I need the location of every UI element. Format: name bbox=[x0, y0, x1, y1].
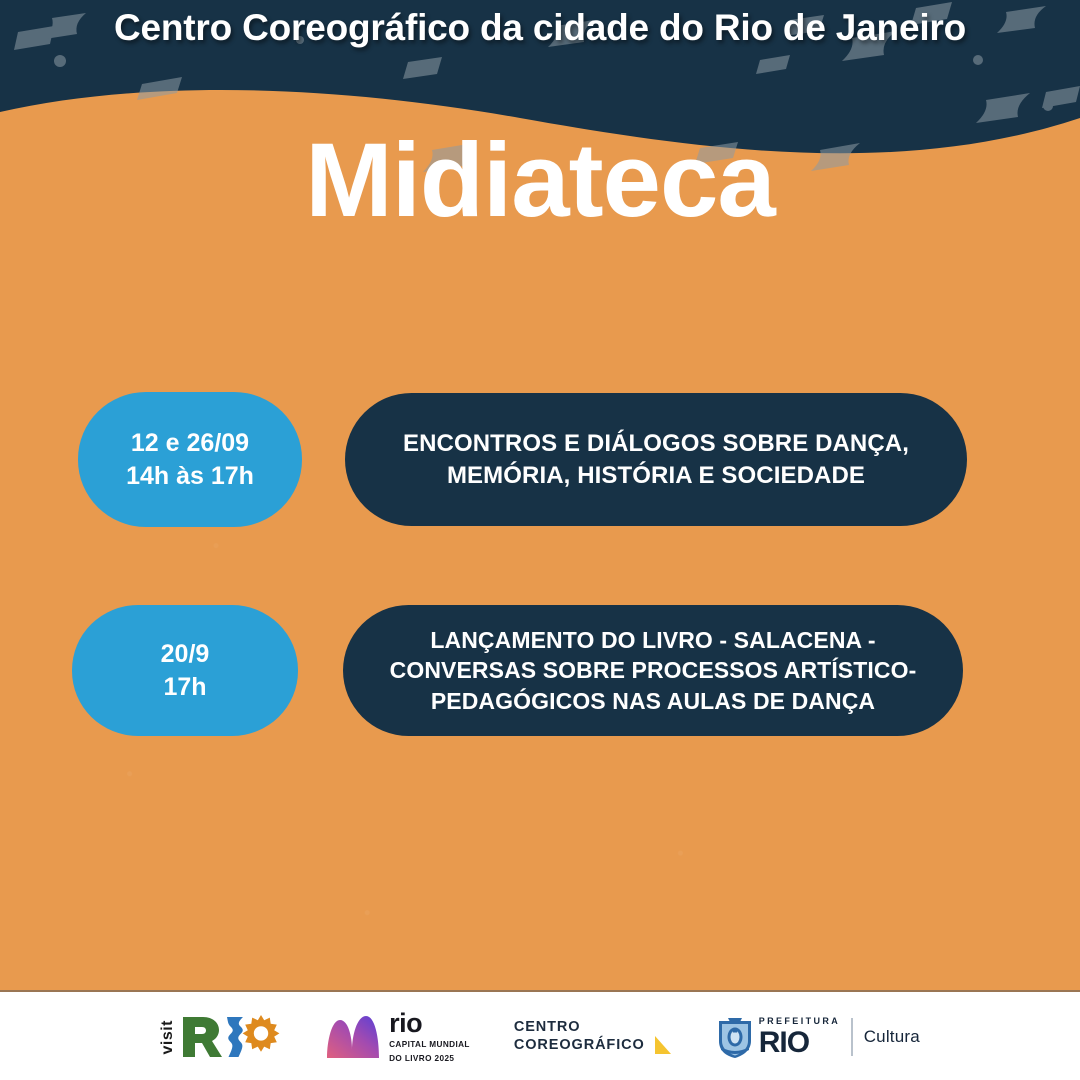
date-line-secondary: 17h bbox=[163, 671, 206, 704]
prefeitura-divider bbox=[851, 1018, 853, 1056]
prefeitura-department-label: Cultura bbox=[864, 1027, 920, 1047]
visitrio-wordmark-icon bbox=[181, 1015, 281, 1059]
page-title: Midiateca bbox=[0, 126, 1080, 236]
event-title-capsule: LANÇAMENTO DO LIVRO - SALACENA - CONVERS… bbox=[343, 605, 963, 736]
logo-centro-coreografico: CENTRO COREOGRÁFICO bbox=[514, 1018, 672, 1056]
poster: Centro Coreográfico da cidade do Rio de … bbox=[0, 0, 1080, 1080]
prefeitura-top-label: PREFEITURA bbox=[759, 1017, 841, 1026]
logo-prefeitura-rio-cultura: PREFEITURA RIO Cultura bbox=[716, 1015, 920, 1059]
visitrio-visit-label: visit bbox=[160, 1020, 176, 1055]
footer-divider bbox=[0, 990, 1080, 992]
riolivro-name: rio bbox=[389, 1010, 470, 1037]
centro-line-2: COREOGRÁFICO bbox=[514, 1037, 645, 1055]
logo-visitrio: visit bbox=[160, 1015, 281, 1059]
prefeitura-name: RIO bbox=[759, 1028, 841, 1058]
date-pill: 12 e 26/09 14h às 17h bbox=[78, 392, 302, 527]
schedule-row: 12 e 26/09 14h às 17h ENCONTROS E DIÁLOG… bbox=[0, 392, 1080, 527]
schedule-row: 20/9 17h LANÇAMENTO DO LIVRO - SALACENA … bbox=[0, 605, 1080, 736]
riolivro-subtitle-line-1: CAPITAL MUNDIAL bbox=[389, 1040, 470, 1050]
rio-coat-of-arms-icon bbox=[716, 1015, 754, 1059]
event-title-capsule: ENCONTROS E DIÁLOGOS SOBRE DANÇA, MEMÓRI… bbox=[345, 393, 967, 526]
centro-line-1: CENTRO bbox=[514, 1019, 645, 1037]
mountain-m-icon bbox=[325, 1014, 381, 1060]
date-line-primary: 12 e 26/09 bbox=[131, 427, 249, 460]
riolivro-subtitle-line-2: DO LIVRO 2025 bbox=[389, 1054, 470, 1064]
footer-logo-bar: visit bbox=[0, 994, 1080, 1080]
date-line-primary: 20/9 bbox=[161, 638, 210, 671]
date-line-secondary: 14h às 17h bbox=[126, 460, 254, 493]
date-pill: 20/9 17h bbox=[72, 605, 298, 736]
header-title: Centro Coreográfico da cidade do Rio de … bbox=[0, 7, 1080, 49]
schedule-list: 12 e 26/09 14h às 17h ENCONTROS E DIÁLOG… bbox=[0, 392, 1080, 736]
logo-rio-capital-mundial-do-livro: rio CAPITAL MUNDIAL DO LIVRO 2025 bbox=[325, 1010, 470, 1064]
yellow-triangle-icon bbox=[652, 1018, 672, 1056]
